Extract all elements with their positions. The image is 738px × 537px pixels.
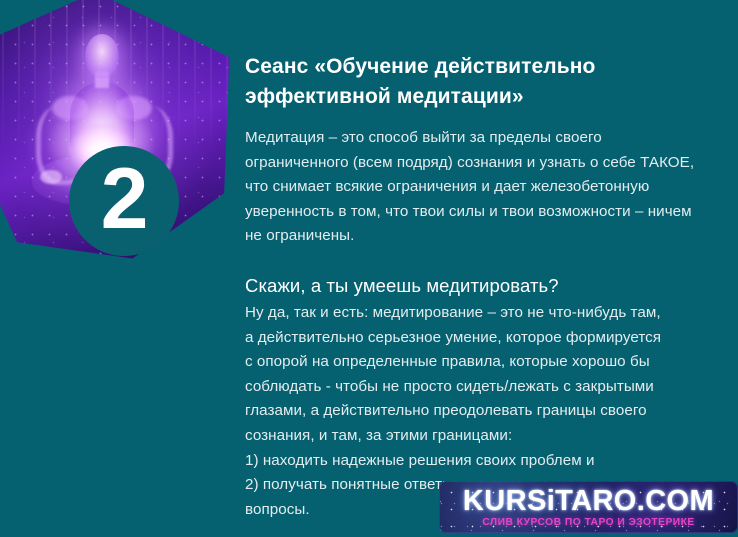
paragraph-line: соблюдать - чтобы не просто сидеть/лежат… bbox=[245, 375, 727, 400]
paragraph-line: сознания, и там, за этими границами: bbox=[245, 424, 727, 449]
page-title: Сеанс «Обучение действительно эффективно… bbox=[245, 52, 727, 112]
step-number-badge: 2 bbox=[69, 146, 179, 256]
section-subheading: Скажи, а ты умеешь медитировать? bbox=[245, 273, 727, 299]
slide-canvas: 2 Сеанс «Обучение действительно эффектив… bbox=[0, 0, 738, 537]
watermark-tagline: СЛИВ КУРСОВ ПО ТАРО И ЭЗОТЕРИКЕ bbox=[482, 517, 694, 529]
intro-paragraph: Медитация – это способ выйти за пределы … bbox=[245, 126, 727, 249]
paragraph-line: Ну да, так и есть: медитирование – это н… bbox=[245, 301, 727, 326]
paragraph-line: не ограничены. bbox=[245, 224, 727, 249]
paragraph-line: с опорой на определенные правила, которы… bbox=[245, 350, 727, 375]
paragraph-line: 1) находить надежные решения своих пробл… bbox=[245, 449, 727, 474]
paragraph-line: что снимает всякие ограничения и дает же… bbox=[245, 175, 727, 200]
figure-head bbox=[85, 34, 119, 78]
paragraph-line: ограниченного (всем подряд) сознания и у… bbox=[245, 151, 727, 176]
watermark-site-name: KURSiTARO.COM bbox=[463, 486, 714, 516]
paragraph-line: глазами, а действительно преодолевать гр… bbox=[245, 399, 727, 424]
paragraph-line: а действительно серьезное умение, которо… bbox=[245, 326, 727, 351]
site-watermark: KURSiTARO.COM СЛИВ КУРСОВ ПО ТАРО И ЭЗОТ… bbox=[439, 481, 738, 533]
paragraph-line: Медитация – это способ выйти за пределы … bbox=[245, 126, 727, 151]
hero-illustration: 2 bbox=[0, 0, 232, 262]
figure-left-hand bbox=[40, 170, 62, 184]
content-column: Сеанс «Обучение действительно эффективно… bbox=[245, 52, 727, 522]
paragraph-line: уверенность в том, что твои силы и твои … bbox=[245, 200, 727, 225]
step-number-label: 2 bbox=[101, 156, 148, 242]
